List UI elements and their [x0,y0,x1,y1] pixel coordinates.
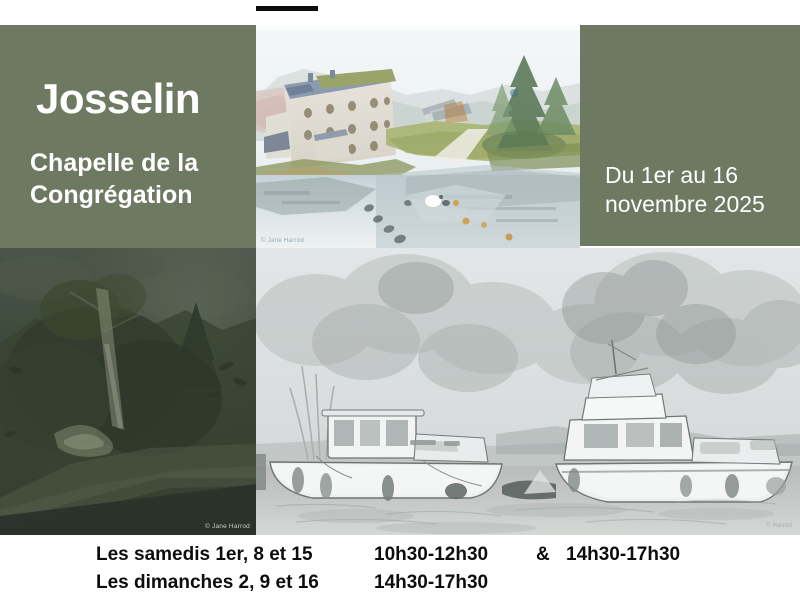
page-title: Josselin [36,78,200,120]
forest-credit: © Jane Harrod [205,523,250,530]
schedule-row: Les dimanches 2, 9 et 16 14h30-17h30 [96,572,796,599]
schedule-days: Les samedis 1er, 8 et 15 [96,544,313,566]
schedule-row: Les samedis 1er, 8 et 15 10h30-12h30 & 1… [96,544,796,571]
venue-name-line-2: Congrégation [30,179,256,211]
boats-image: © Harrod [256,248,800,535]
boats-credit: © Harrod [766,523,792,529]
watercolour-image: © Jane Harrod [256,25,580,248]
top-rule-divider [256,6,318,11]
watercolour-credit: © Jane Harrod [261,238,304,244]
venue-name-line-1: Chapelle de la [30,147,256,179]
schedule-block: Les samedis 1er, 8 et 15 10h30-12h30 & 1… [0,538,800,600]
venue-name: Chapelle de la Congrégation [30,147,256,211]
schedule-separator: & [536,544,550,566]
date-block: Du 1er au 16 novembre 2025 [580,25,800,246]
exhibition-dates-line-1: Du 1er au 16 [605,161,795,190]
exhibition-dates: Du 1er au 16 novembre 2025 [605,161,795,220]
schedule-slot-b: 14h30-17h30 [566,544,680,566]
forest-artwork [0,248,256,535]
schedule-slot-a: 10h30-12h30 [374,544,488,566]
schedule-slot-a: 14h30-17h30 [374,572,488,594]
header-band: Josselin Chapelle de la Congrégation [0,25,800,248]
exhibition-dates-line-2: novembre 2025 [605,190,795,219]
schedule-days: Les dimanches 2, 9 et 16 [96,572,319,594]
forest-image: © Jane Harrod [0,248,256,535]
boats-artwork [256,248,800,535]
title-block: Josselin Chapelle de la Congrégation [0,25,256,248]
exhibition-poster: Josselin Chapelle de la Congrégation [0,0,800,600]
lower-image-row: © Jane Harrod [0,248,800,535]
watercolour-artwork [256,25,580,248]
